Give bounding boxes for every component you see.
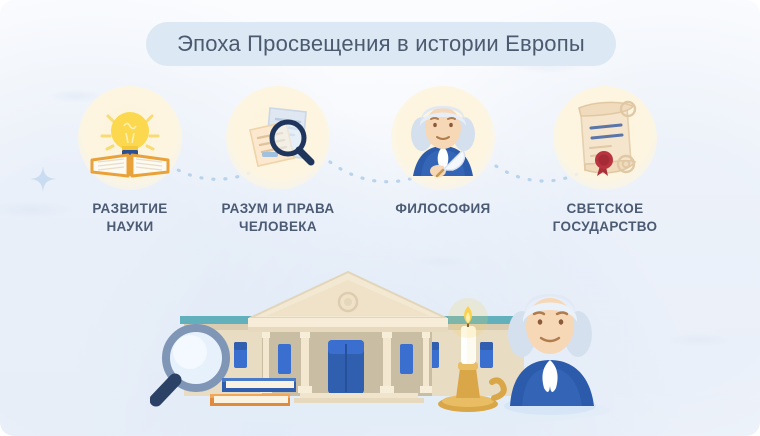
icon-disc-philosophy [391, 86, 495, 190]
icon-disc-science [78, 86, 182, 190]
label-line-2: ЧЕЛОВЕКА [190, 218, 366, 236]
icon-disc-reason [226, 86, 330, 190]
philosopher-bust-illustration [504, 294, 596, 415]
documents-magnifier-icon [226, 86, 330, 190]
pillar-label-reason: РАЗУМ И ПРАВА ЧЕЛОВЕКА [190, 200, 366, 236]
pillar-philosophy[interactable]: ФИЛОСОФИЯ [355, 86, 531, 218]
label-line-1: ФИЛОСОФИЯ [355, 200, 531, 218]
stacked-books-illustration [210, 378, 296, 406]
page-title: Эпоха Просвещения в истории Европы [177, 31, 585, 57]
label-line-1: РАЗУМ И ПРАВА [190, 200, 366, 218]
infographic-canvas: Эпоха Просвещения в истории Европы [0, 0, 760, 436]
title-banner: Эпоха Просвещения в истории Европы [146, 22, 616, 66]
pillar-label-secular: СВЕТСКОЕ ГОСУДАРСТВО [517, 200, 693, 236]
pillars-row: РАЗВИТИЕ НАУКИ [0, 86, 760, 256]
label-line-1: СВЕТСКОЕ [517, 200, 693, 218]
pillar-secular-state[interactable]: СВЕТСКОЕ ГОСУДАРСТВО [517, 86, 693, 236]
icon-disc-secular [553, 86, 657, 190]
lightbulb-book-icon [78, 86, 182, 190]
scroll-seal-icon [553, 86, 657, 190]
label-line-2: ГОСУДАРСТВО [517, 218, 693, 236]
philosopher-quill-icon [391, 86, 495, 190]
bottom-illustration [150, 258, 630, 428]
pillar-reason-rights[interactable]: РАЗУМ И ПРАВА ЧЕЛОВЕКА [190, 86, 366, 236]
pillar-label-philosophy: ФИЛОСОФИЯ [355, 200, 531, 218]
